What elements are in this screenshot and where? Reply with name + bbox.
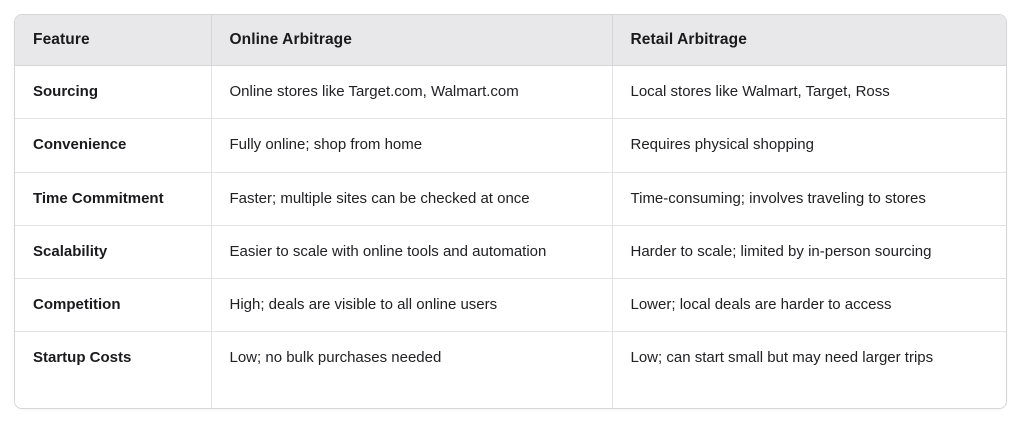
cell-feature: Startup Costs: [15, 332, 211, 409]
table-header-row: Feature Online Arbitrage Retail Arbitrag…: [15, 15, 1006, 66]
cell-online-arbitrage: Fully online; shop from home: [211, 119, 612, 172]
table-row: Time Commitment Faster; multiple sites c…: [15, 172, 1006, 225]
comparison-table-container: Feature Online Arbitrage Retail Arbitrag…: [14, 14, 1007, 409]
cell-retail-arbitrage: Local stores like Walmart, Target, Ross: [612, 66, 1006, 119]
cell-online-arbitrage: Faster; multiple sites can be checked at…: [211, 172, 612, 225]
column-header-retail-arbitrage: Retail Arbitrage: [612, 15, 1006, 66]
table-row: Competition High; deals are visible to a…: [15, 279, 1006, 332]
cell-online-arbitrage: High; deals are visible to all online us…: [211, 279, 612, 332]
column-header-online-arbitrage: Online Arbitrage: [211, 15, 612, 66]
cell-feature: Scalability: [15, 225, 211, 278]
cell-feature: Time Commitment: [15, 172, 211, 225]
cell-retail-arbitrage: Low; can start small but may need larger…: [612, 332, 1006, 409]
cell-retail-arbitrage: Lower; local deals are harder to access: [612, 279, 1006, 332]
cell-retail-arbitrage: Harder to scale; limited by in-person so…: [612, 225, 1006, 278]
cell-retail-arbitrage: Requires physical shopping: [612, 119, 1006, 172]
table-row: Sourcing Online stores like Target.com, …: [15, 66, 1006, 119]
table-header: Feature Online Arbitrage Retail Arbitrag…: [15, 15, 1006, 66]
table-row: Startup Costs Low; no bulk purchases nee…: [15, 332, 1006, 409]
table-row: Convenience Fully online; shop from home…: [15, 119, 1006, 172]
comparison-table: Feature Online Arbitrage Retail Arbitrag…: [15, 15, 1006, 408]
cell-feature: Convenience: [15, 119, 211, 172]
cell-online-arbitrage: Low; no bulk purchases needed: [211, 332, 612, 409]
cell-online-arbitrage: Easier to scale with online tools and au…: [211, 225, 612, 278]
cell-feature: Competition: [15, 279, 211, 332]
cell-online-arbitrage: Online stores like Target.com, Walmart.c…: [211, 66, 612, 119]
cell-retail-arbitrage: Time-consuming; involves traveling to st…: [612, 172, 1006, 225]
cell-feature: Sourcing: [15, 66, 211, 119]
table-body: Sourcing Online stores like Target.com, …: [15, 66, 1006, 409]
table-row: Scalability Easier to scale with online …: [15, 225, 1006, 278]
column-header-feature: Feature: [15, 15, 211, 66]
